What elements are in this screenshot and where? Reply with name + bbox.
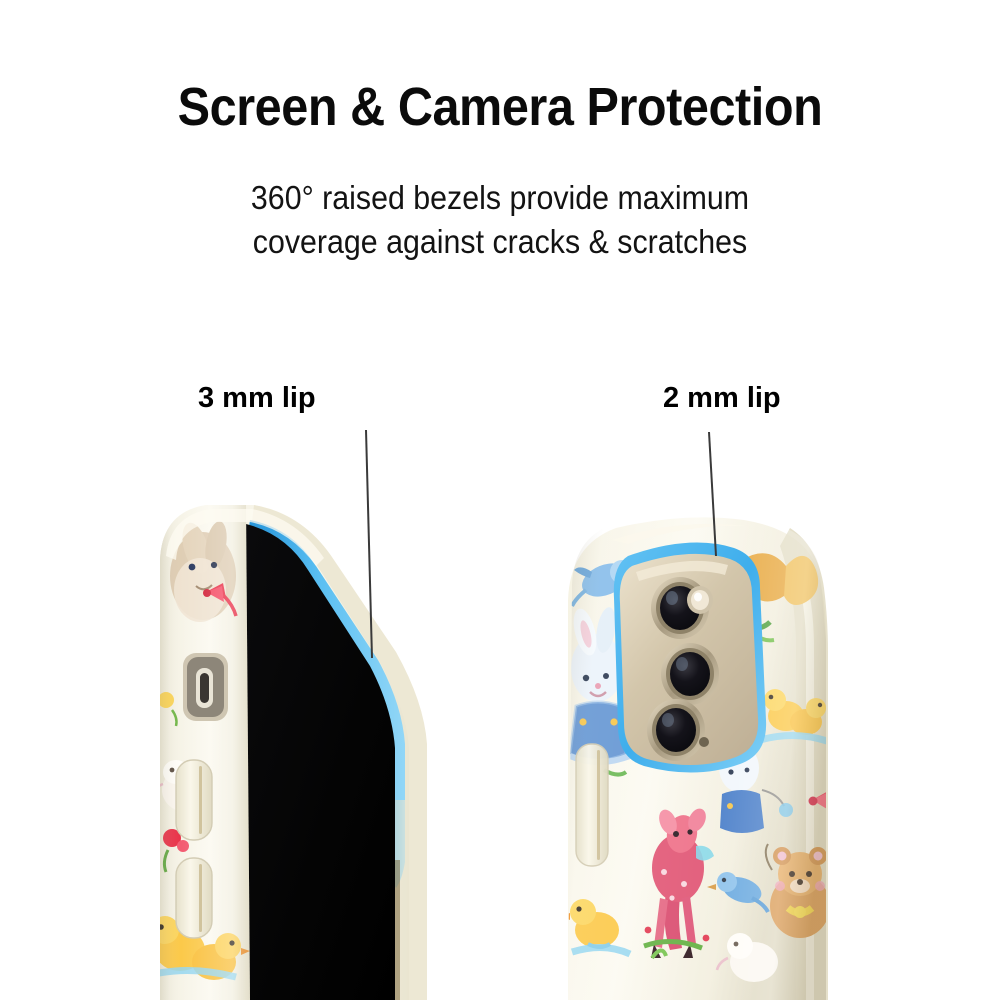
- camera-lens-3: [647, 699, 705, 761]
- camera-flash: [687, 586, 713, 614]
- volume-down-button: [176, 858, 212, 938]
- camera-module: [614, 543, 766, 773]
- volume-up-button: [176, 760, 212, 840]
- camera-microphone: [699, 737, 709, 747]
- mute-switch-cutout: [183, 653, 228, 721]
- camera-lens-2: [661, 643, 719, 705]
- left-screen-edge-reflection: [395, 860, 400, 1000]
- product-illustration: [0, 0, 1000, 1000]
- side-button: [576, 744, 608, 866]
- left-phone-screen: [246, 524, 395, 1000]
- right-phone-case: [560, 505, 848, 1000]
- left-phone-case: [141, 495, 427, 1000]
- infographic-canvas: Screen & Camera Protection 360° raised b…: [0, 0, 1000, 1000]
